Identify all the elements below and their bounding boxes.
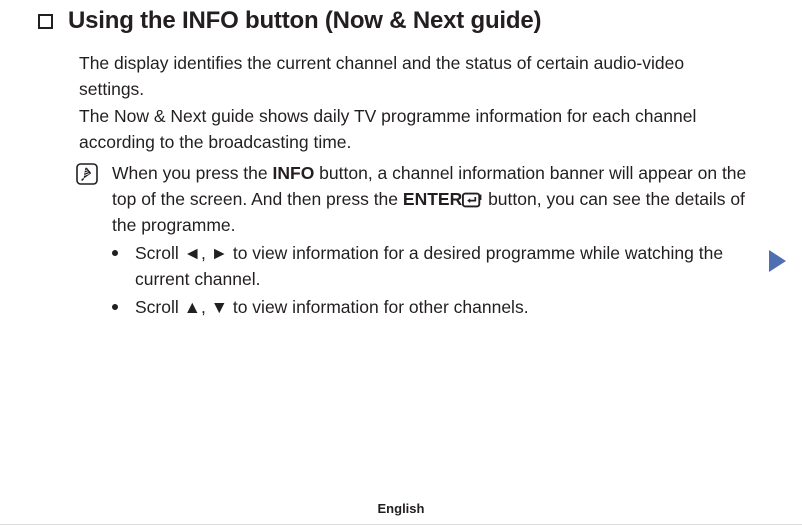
enter-key-icon (462, 189, 482, 205)
note-block: When you press the INFO button, a channe… (76, 160, 776, 238)
list-item-label: Scroll ▲, ▼ to view information for othe… (135, 294, 755, 320)
intro-paragraph-2: The Now & Next guide shows daily TV prog… (79, 103, 744, 155)
square-bullet-icon (38, 14, 53, 29)
next-page-arrow-icon[interactable] (769, 250, 786, 272)
dot-bullet-icon (112, 304, 118, 310)
page-footer: English (0, 500, 802, 518)
page-title: Using the INFO button (Now & Next guide) (68, 6, 541, 36)
dot-bullet-icon (112, 250, 118, 256)
note-text: When you press the INFO button, a channe… (112, 160, 772, 238)
bullet-list: Scroll ◄, ► to view information for a de… (112, 240, 772, 322)
enter-button-label: ENTER (403, 189, 462, 209)
list-item-label: Scroll ◄, ► to view information for a de… (135, 240, 755, 292)
intro-paragraph-1: The display identifies the current chann… (79, 50, 744, 102)
manual-page: Using the INFO button (Now & Next guide)… (0, 0, 802, 525)
footer-language-label: English (378, 501, 425, 516)
list-item: Scroll ◄, ► to view information for a de… (112, 240, 772, 292)
list-item: Scroll ▲, ▼ to view information for othe… (112, 294, 772, 320)
section-heading: Using the INFO button (Now & Next guide) (38, 6, 541, 36)
note-text-part-1: When you press the (112, 163, 273, 183)
note-pencil-icon (76, 163, 98, 185)
info-button-label: INFO (273, 163, 315, 183)
